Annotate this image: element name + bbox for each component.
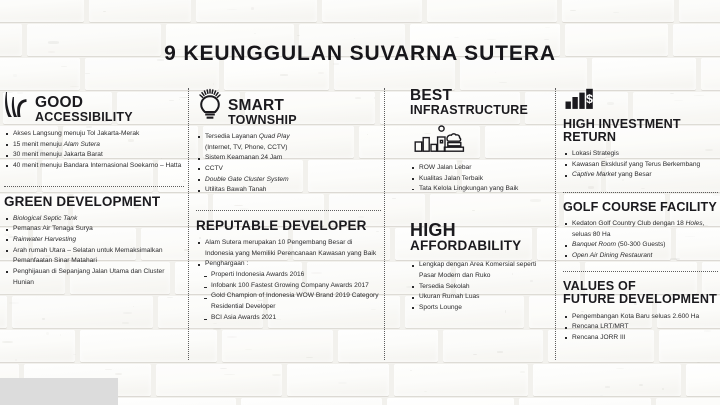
list-item: Tata Kelola Lingkungan yang Baik [410, 184, 552, 195]
column-3: BEST INFRASTRUCTURE [392, 88, 552, 363]
list-item: ROW Jalan Lebar [410, 163, 552, 174]
section-smart-township: SMART TOWNSHIP Tersedia Layanan Quad Pla… [196, 88, 381, 196]
lightbulb-icon [196, 88, 226, 127]
bullet-list-values-of-future-development: Pengembangan Kota Baru seluas 2.600 Ha R… [563, 312, 718, 344]
list-item: 30 menit menuju Jakarta Barat [4, 150, 184, 161]
list-item: Rainwater Harvesting [4, 235, 184, 246]
list-item: Arah rumah Utara – Selatan untuk Memaksi… [4, 246, 184, 267]
list-item: Tersedia Layanan Quad Play(Internet, TV,… [196, 132, 381, 153]
heading-high-affordability: HIGH AFFORDABILITY [410, 221, 552, 253]
section-best-infrastructure: BEST INFRASTRUCTURE [392, 88, 552, 195]
list-item: Rencana JORR III [563, 333, 718, 344]
bullet-list-best-infrastructure: ROW Jalan Lebar Kualitas Jalan Terbaik T… [410, 163, 552, 195]
column-divider-1 [188, 88, 189, 360]
section-good-accessibility: GOOD ACCESSIBILITY Akses Langsung menuju… [4, 88, 184, 172]
list-item: Utilitas Bawah Tanah [196, 185, 381, 196]
list-item: Penghijauan di Sepanjang Jalan Utama dan… [4, 267, 184, 288]
bullet-list-high-affordability: Lengkap dengan Area Komersial seperti Pa… [410, 260, 552, 313]
list-item: Alam Sutera merupakan 10 Pengembang Besa… [196, 238, 381, 259]
section-values-of-future-development: VALUES OF FUTURE DEVELOPMENT Pengembanga… [563, 280, 718, 344]
list-item: Biological Septic Tank [4, 214, 184, 225]
list-item: Infobank 100 Fastest Growing Company Awa… [203, 281, 381, 292]
section-green-development: GREEN DEVELOPMENT Biological Septic Tank… [4, 195, 184, 289]
section-high-affordability: HIGH AFFORDABILITY Lengkap dengan Area K… [392, 221, 552, 314]
heading-reputable-developer: REPUTABLE DEVELOPER [196, 219, 381, 233]
footer-gray-box [0, 378, 118, 405]
section-divider-c4-b [563, 271, 718, 272]
list-item: Gold Champion of Indonesia WOW Brand 201… [203, 291, 381, 312]
list-item: Akses Langsung menuju Tol Jakarta-Merak [4, 129, 184, 140]
svg-text:$: $ [586, 92, 593, 106]
heading-golf-course-facility: GOLF COURSE FACILITY [563, 201, 718, 214]
section-divider-c4-a [563, 192, 718, 193]
bullet-list-smart-township: Tersedia Layanan Quad Play(Internet, TV,… [196, 132, 381, 196]
column-4: $ HIGH INVESTMENT RETURN Lokasi Strategi… [563, 88, 718, 363]
column-divider-3 [555, 88, 556, 360]
list-item: Double Gate Cluster System [196, 175, 381, 186]
list-item: Lokasi Strategis [563, 149, 718, 160]
heading-good-accessibility: GOOD ACCESSIBILITY [35, 95, 133, 124]
list-item: Rencana LRT/MRT [563, 322, 718, 333]
heading-high-investment-return: HIGH INVESTMENT RETURN [563, 118, 718, 144]
bullet-list-good-accessibility: Akses Langsung menuju Tol Jakarta-Merak … [4, 129, 184, 172]
heading-green-development: GREEN DEVELOPMENT [4, 195, 184, 209]
list-item: CCTV [196, 164, 381, 175]
list-item: 40 menit menuju Bandara Internasional So… [4, 161, 184, 172]
bullet-list-green-development: Biological Septic Tank Pemanas Air Tenag… [4, 214, 184, 289]
list-item: Kedaton Golf Country Club dengan 18 Hole… [563, 219, 718, 240]
list-item: Sistem Keamanan 24 Jam [196, 153, 381, 164]
section-reputable-developer: REPUTABLE DEVELOPER Alam Sutera merupaka… [196, 219, 381, 323]
heading-values-of-future-development: VALUES OF FUTURE DEVELOPMENT [563, 280, 718, 306]
list-item: Ukuran Rumah Luas [410, 292, 552, 303]
section-high-investment-return: $ HIGH INVESTMENT RETURN Lokasi Strategi… [563, 88, 718, 181]
list-item: Penghargaan : [196, 259, 381, 270]
list-item: Pengembangan Kota Baru seluas 2.600 Ha [563, 312, 718, 323]
bullet-list-golf-course-facility: Kedaton Golf Country Club dengan 18 Hole… [563, 219, 718, 262]
section-divider-c1 [4, 186, 184, 187]
list-item: Kualitas Jalan Terbaik [410, 174, 552, 185]
bullet-list-reputable-developer: Alam Sutera merupakan 10 Pengembang Besa… [196, 238, 381, 270]
list-item: Banquet Room (50-300 Guests) [563, 240, 718, 251]
cityscape-icon [414, 125, 552, 158]
sub-bullet-list-awards: Properti Indonesia Awards 2016 Infobank … [203, 270, 381, 323]
list-item: Sports Lounge [410, 303, 552, 314]
bullet-list-high-investment-return: Lokasi Strategis Kawasan Eksklusif yang … [563, 149, 718, 181]
page-title: 9 KEUNGGULAN SUVARNA SUTERA [0, 42, 720, 66]
list-item: Lengkap dengan Area Komersial seperti Pa… [410, 260, 552, 281]
list-item: Captive Market yang Besar [563, 170, 718, 181]
list-item: Open Air Dining Restaurant [563, 251, 718, 262]
section-divider-c2 [196, 210, 381, 211]
list-item: BCI Asia Awards 2021 [203, 313, 381, 324]
list-item: Kawasan Eksklusif yang Terus Berkembang [563, 160, 718, 171]
list-item: Tersedia Sekolah [410, 282, 552, 293]
bar-chart-dollar-icon: $ [565, 88, 718, 115]
road-icon [4, 88, 30, 124]
column-2: SMART TOWNSHIP Tersedia Layanan Quad Pla… [196, 88, 381, 363]
heading-best-infrastructure: BEST INFRASTRUCTURE [410, 88, 552, 117]
list-item: Properti Indonesia Awards 2016 [203, 270, 381, 281]
list-item: 15 menit menuju Alam Sutera [4, 140, 184, 151]
column-1: GOOD ACCESSIBILITY Akses Langsung menuju… [4, 88, 184, 363]
section-golf-course-facility: GOLF COURSE FACILITY Kedaton Golf Countr… [563, 201, 718, 262]
column-divider-2 [384, 88, 385, 360]
heading-smart-township: SMART TOWNSHIP [228, 98, 297, 127]
list-item: Pemanas Air Tenaga Surya [4, 224, 184, 235]
